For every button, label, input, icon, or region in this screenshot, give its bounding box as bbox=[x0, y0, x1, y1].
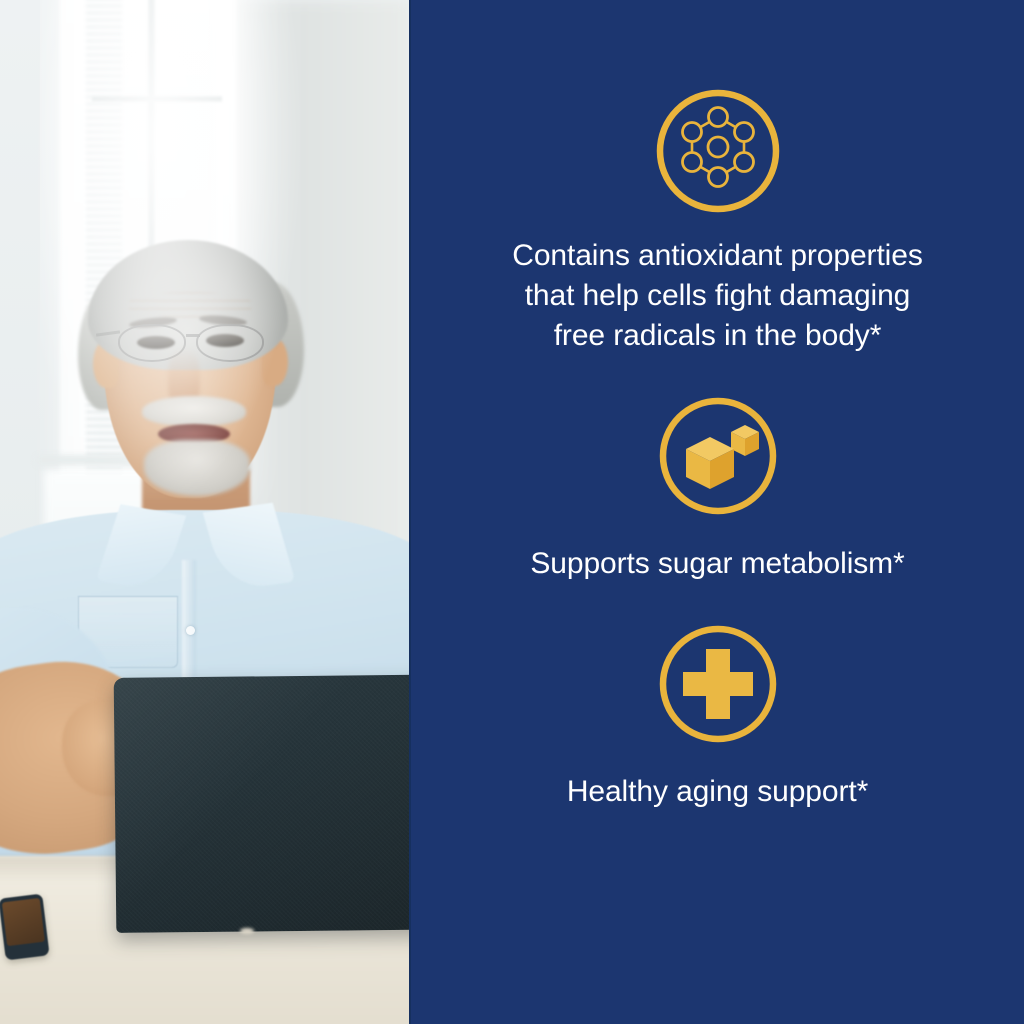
ad-creative: Contains antioxidant properties that hel… bbox=[0, 0, 1024, 1024]
laptop-foot bbox=[240, 928, 254, 934]
lens-right bbox=[196, 324, 264, 362]
forehead-wrinkles bbox=[126, 292, 254, 318]
phone-screen bbox=[2, 898, 45, 946]
benefits-panel: Contains antioxidant properties that hel… bbox=[411, 0, 1024, 1024]
molecule-icon bbox=[653, 86, 783, 216]
benefit-text-sugar-metabolism: Supports sugar metabolism* bbox=[530, 544, 904, 584]
benefit-item-healthy-aging: Healthy aging support* bbox=[411, 622, 1024, 812]
smartphone bbox=[0, 894, 50, 961]
benefit-text-antioxidant: Contains antioxidant properties that hel… bbox=[512, 236, 922, 356]
glasses-bridge bbox=[186, 334, 200, 337]
benefit-text-healthy-aging: Healthy aging support* bbox=[567, 772, 868, 812]
sugar-cubes-icon bbox=[656, 394, 780, 518]
shirt-button bbox=[186, 626, 195, 635]
plus-cross-icon bbox=[656, 622, 780, 746]
benefit-item-antioxidant: Contains antioxidant properties that hel… bbox=[411, 86, 1024, 356]
goatee bbox=[144, 440, 250, 496]
mustache bbox=[142, 396, 246, 426]
benefit-item-sugar-metabolism: Supports sugar metabolism* bbox=[411, 394, 1024, 584]
